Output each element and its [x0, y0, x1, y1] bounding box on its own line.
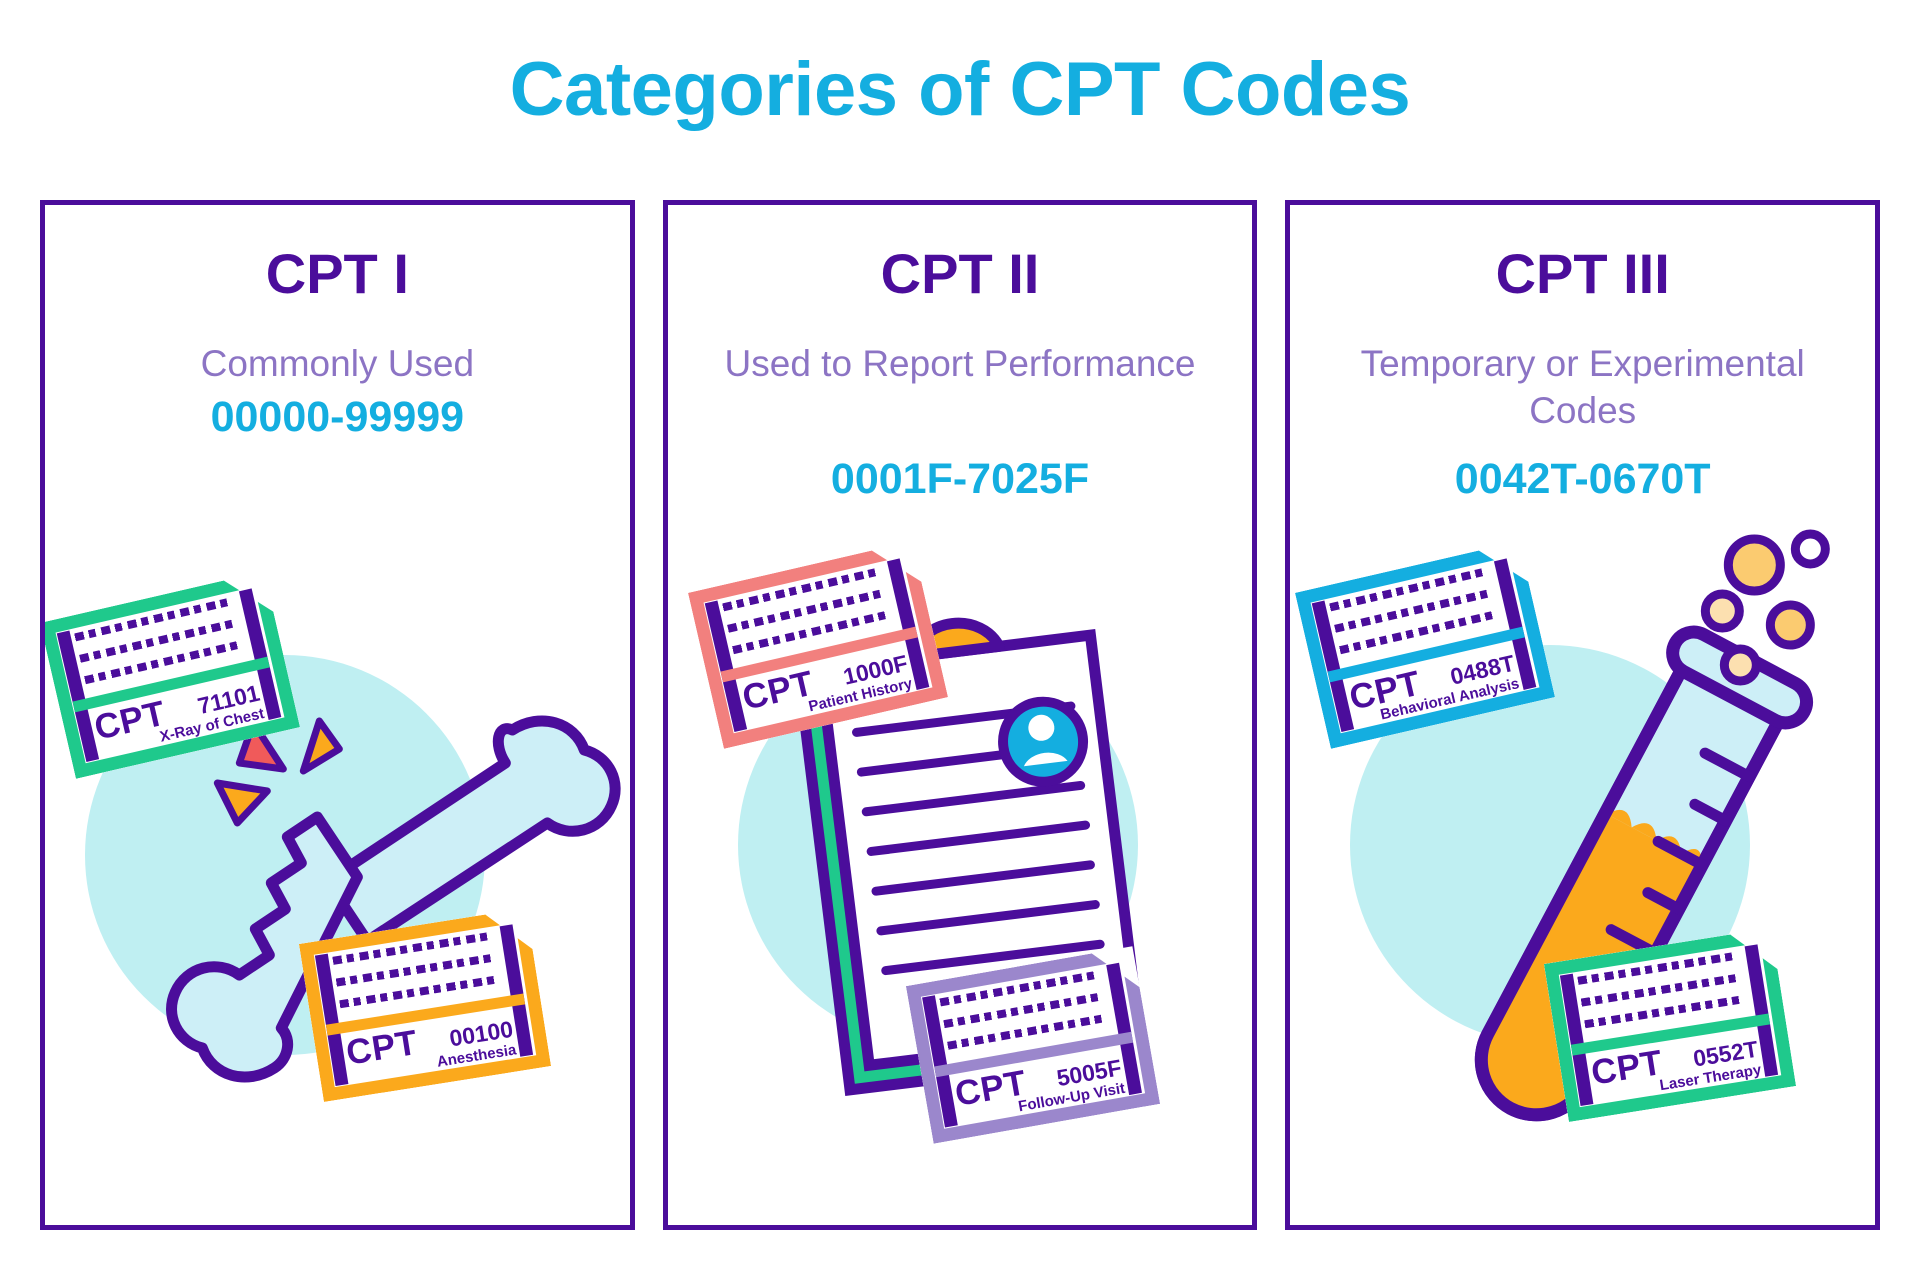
panel-cpt-2: CPT II Used to Report Performance 0001F-… [663, 200, 1258, 1230]
panel-2-code-range: 0001F-7025F [668, 457, 1253, 502]
panel-3-heading: CPT III [1290, 245, 1875, 304]
panel-1-illustration: CPT 71101 X-Ray of Chest CPT 00100 Anest… [45, 525, 630, 1225]
panel-1-heading: CPT I [45, 245, 630, 304]
panel-cpt-3: CPT III Temporary or Experimental Codes … [1285, 200, 1880, 1230]
panel-2-subtitle: Used to Report Performance [668, 340, 1253, 387]
panel-3-illustration: CPT 0488T Behavioral Analysis CPT 0552T … [1290, 525, 1875, 1225]
page-title: Categories of CPT Codes [0, 52, 1920, 128]
infographic-page: Categories of CPT Codes CPT I Commonly U… [0, 0, 1920, 1264]
panel-1-subtitle: Commonly Used [45, 340, 630, 387]
panel-3-subtitle: Temporary or Experimental Codes [1290, 340, 1875, 435]
panels-row: CPT I Commonly Used 00000-99999 [40, 200, 1880, 1230]
panel-2-heading: CPT II [668, 245, 1253, 304]
panel-3-code-range: 0042T-0670T [1290, 457, 1875, 502]
panel-2-illustration: CPT 1000F Patient History CPT 5005F Foll… [668, 525, 1253, 1225]
panel-1-code-range: 00000-99999 [45, 395, 630, 440]
panel-cpt-1: CPT I Commonly Used 00000-99999 [40, 200, 635, 1230]
